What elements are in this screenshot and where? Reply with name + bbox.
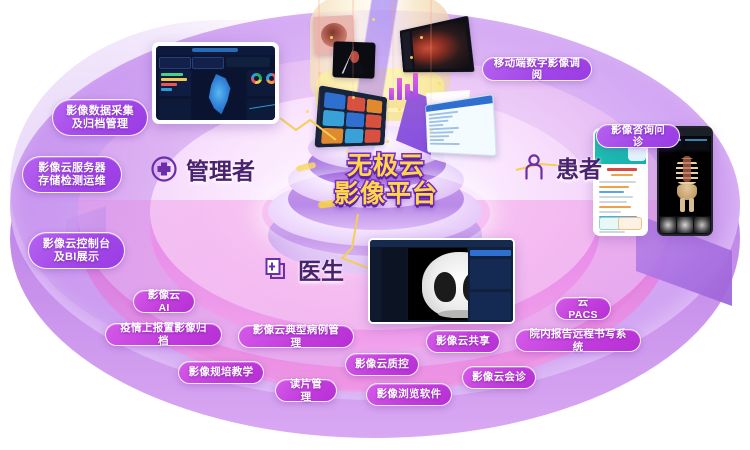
pill-image-cloud-mdt[interactable]: 影像云会诊 — [462, 366, 536, 389]
sparkle — [410, 56, 413, 59]
role-patient[interactable]: 患者 — [520, 150, 602, 184]
page-title: 无极云 影像平台 — [318, 152, 454, 208]
sparkle — [346, 150, 349, 153]
person-icon — [520, 153, 548, 181]
role-doctor[interactable]: 医生 — [262, 252, 344, 286]
sparkle — [438, 82, 441, 85]
pill-image-cloud-server[interactable]: 影像云服务器 存储检测运维 — [22, 156, 122, 193]
pill-image-cloud-sharing[interactable]: 影像云共享 — [426, 330, 500, 353]
role-admin-label: 管理者 — [186, 152, 255, 186]
pill-image-cloud-qc[interactable]: 影像云质控 — [345, 353, 419, 376]
sparkle — [386, 140, 389, 143]
sparkle — [330, 36, 333, 39]
pill-image-cloud-console[interactable]: 影像云控制台 及BI展示 — [28, 232, 125, 269]
bar-chart-hologram — [389, 66, 425, 100]
light-ray — [430, 0, 432, 140]
role-doctor-label: 医生 — [298, 252, 344, 286]
ct-viewer-screen[interactable] — [368, 238, 515, 324]
sparkle — [306, 110, 309, 113]
sparkle — [398, 108, 401, 111]
role-patient-label: 患者 — [556, 150, 602, 184]
sparkle — [420, 36, 423, 39]
ultrasound-thumbnail — [332, 41, 375, 78]
pill-standardized-training[interactable]: 影像规培教学 — [178, 361, 264, 384]
medical-record-plus-icon — [262, 255, 290, 283]
light-ray — [392, 0, 394, 120]
bi-dashboard-screen — [156, 46, 275, 120]
pill-cloud-pacs[interactable]: 云PACS — [555, 297, 611, 320]
ct-viewer-display — [370, 240, 513, 322]
pill-image-data-collection[interactable]: 影像数据采集 及归档管理 — [52, 99, 148, 136]
pill-mobile-image-retrieval[interactable]: 移动端数字影像调阅 — [482, 57, 592, 81]
pill-image-consultation[interactable]: 影像咨询问诊 — [596, 124, 680, 148]
pill-epidemic-report-archive[interactable]: 疫情上报置影像归档 — [105, 323, 222, 346]
pill-typical-case-management[interactable]: 影像云典型病例管理 — [238, 325, 354, 348]
pill-image-viewer-software[interactable]: 影像浏览软件 — [366, 383, 452, 406]
role-admin[interactable]: 管理者 — [150, 152, 255, 186]
pill-film-reading-management[interactable]: 读片管理 — [275, 379, 337, 402]
hospital-cross-icon — [150, 155, 178, 183]
sparkle — [372, 18, 375, 21]
infographic-canvas: 无极云 影像平台 管理者 患者 医生 影像数据 — [0, 0, 750, 450]
pill-remote-report-writing[interactable]: 院内报告远程书写系统 — [515, 329, 641, 352]
light-ray — [352, 0, 354, 130]
pill-image-cloud-ai[interactable]: 影像云AI — [133, 290, 195, 313]
bi-dashboard-tablet[interactable] — [152, 42, 279, 124]
report-table-screen — [425, 94, 497, 156]
light-ray — [318, 0, 320, 150]
